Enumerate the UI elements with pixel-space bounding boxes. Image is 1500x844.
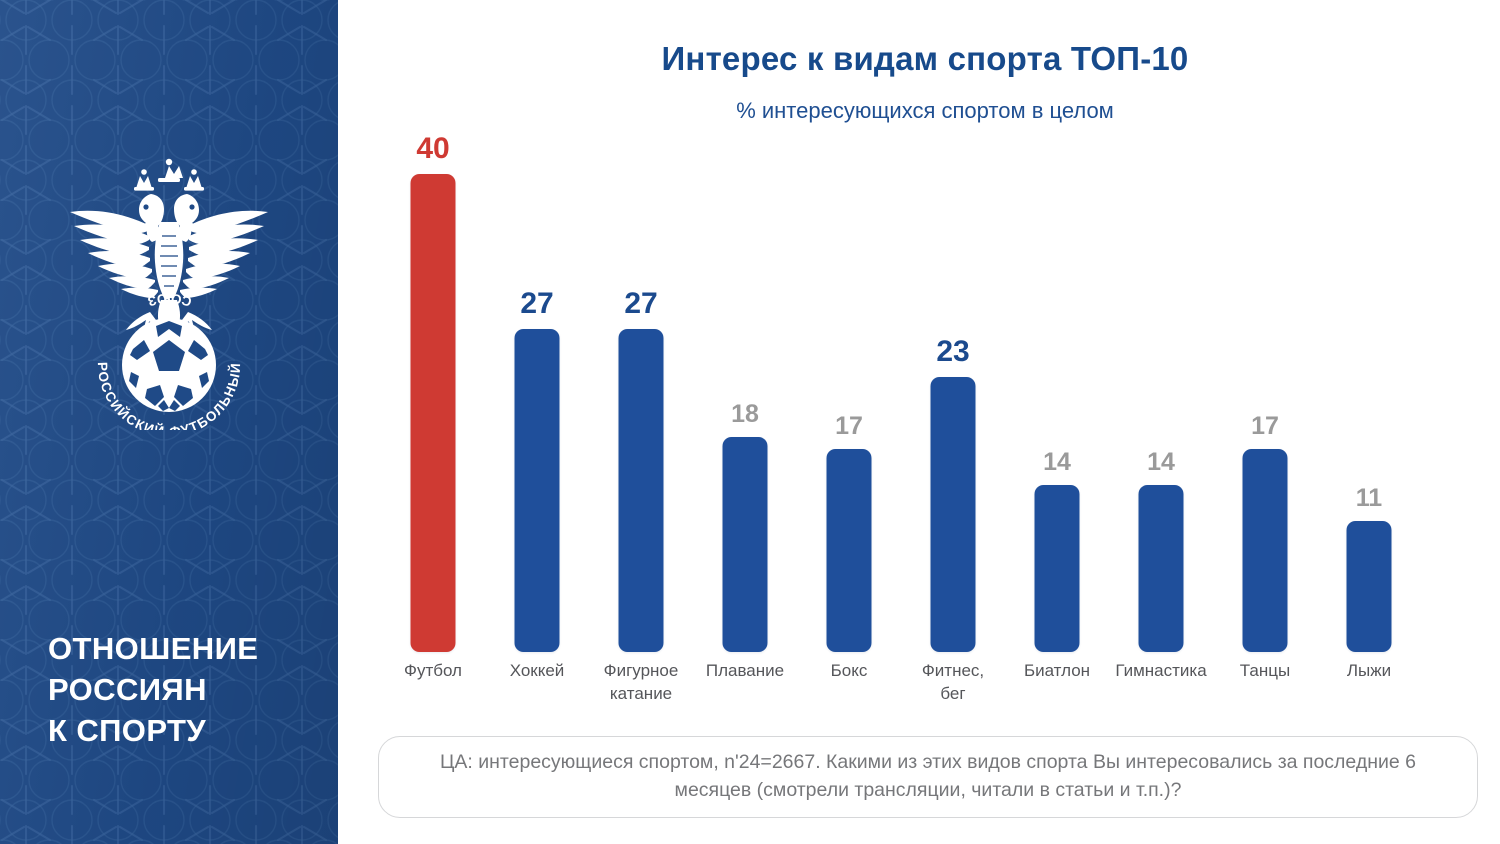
bar-column: 14Биатлон (1005, 130, 1109, 710)
bar-category-label: Биатлон (998, 654, 1116, 710)
bar-column: 27Фигурное катание (589, 130, 693, 710)
bar-value-label: 40 (381, 134, 485, 164)
chart-title: Интерес к видам спорта ТОП-10 (370, 40, 1480, 78)
bar[interactable] (1139, 485, 1184, 652)
bar-value-label: 18 (693, 402, 797, 427)
bar-category-label: Гимнастика (1102, 654, 1220, 710)
bar-category-label: Фитнес, бег (894, 654, 1012, 710)
bar[interactable] (723, 437, 768, 652)
bar-category-label: Плавание (686, 654, 804, 710)
bar-value-label: 14 (1109, 450, 1213, 475)
bar[interactable] (515, 329, 560, 652)
bar-category-label: Танцы (1206, 654, 1324, 710)
bar-value-label: 11 (1317, 486, 1421, 511)
bar-value-label: 27 (485, 289, 589, 319)
bar[interactable] (1243, 449, 1288, 652)
bar-value-label: 17 (797, 414, 901, 439)
bar-category-label: Хоккей (478, 654, 596, 710)
bar-category-label: Футбол (374, 654, 492, 710)
bar-column: 17Бокс (797, 130, 901, 710)
bar[interactable] (1347, 521, 1392, 652)
bar-column: 27Хоккей (485, 130, 589, 710)
bar-column: 14Гимнастика (1109, 130, 1213, 710)
bar[interactable] (1035, 485, 1080, 652)
bar[interactable] (619, 329, 664, 652)
bar-column: 11Лыжи (1317, 130, 1421, 710)
footnote-text: ЦА: интересующиеся спортом, n'24=2667. К… (413, 749, 1443, 804)
bar-column: 17Танцы (1213, 130, 1317, 710)
russian-football-union-logo: РОССИЙСКИЙ ФУТБОЛЬНЫЙ СОЮЗ (54, 150, 284, 430)
bar[interactable] (411, 174, 456, 652)
bar[interactable] (931, 377, 976, 652)
sidebar: РОССИЙСКИЙ ФУТБОЛЬНЫЙ СОЮЗ ОТНОШЕНИЕ РОС… (0, 0, 338, 844)
bar-chart: 40Футбол27Хоккей27Фигурное катание18Плав… (370, 130, 1480, 710)
slide-root: РОССИЙСКИЙ ФУТБОЛЬНЫЙ СОЮЗ ОТНОШЕНИЕ РОС… (0, 0, 1500, 844)
bar-value-label: 23 (901, 337, 1005, 367)
footnote-box: ЦА: интересующиеся спортом, n'24=2667. К… (378, 736, 1478, 818)
bar-column: 23Фитнес, бег (901, 130, 1005, 710)
bar[interactable] (827, 449, 872, 652)
bar-category-label: Фигурное катание (582, 654, 700, 710)
bar-column: 18Плавание (693, 130, 797, 710)
bar-category-label: Лыжи (1310, 654, 1428, 710)
bar-value-label: 27 (589, 289, 693, 319)
chart-subtitle: % интересующихся спортом в целом (370, 98, 1480, 124)
bar-value-label: 14 (1005, 450, 1109, 475)
bar-value-label: 17 (1213, 414, 1317, 439)
bar-category-label: Бокс (790, 654, 908, 710)
bar-column: 40Футбол (381, 130, 485, 710)
sidebar-title: ОТНОШЕНИЕ РОССИЯН К СПОРТУ (48, 629, 328, 752)
